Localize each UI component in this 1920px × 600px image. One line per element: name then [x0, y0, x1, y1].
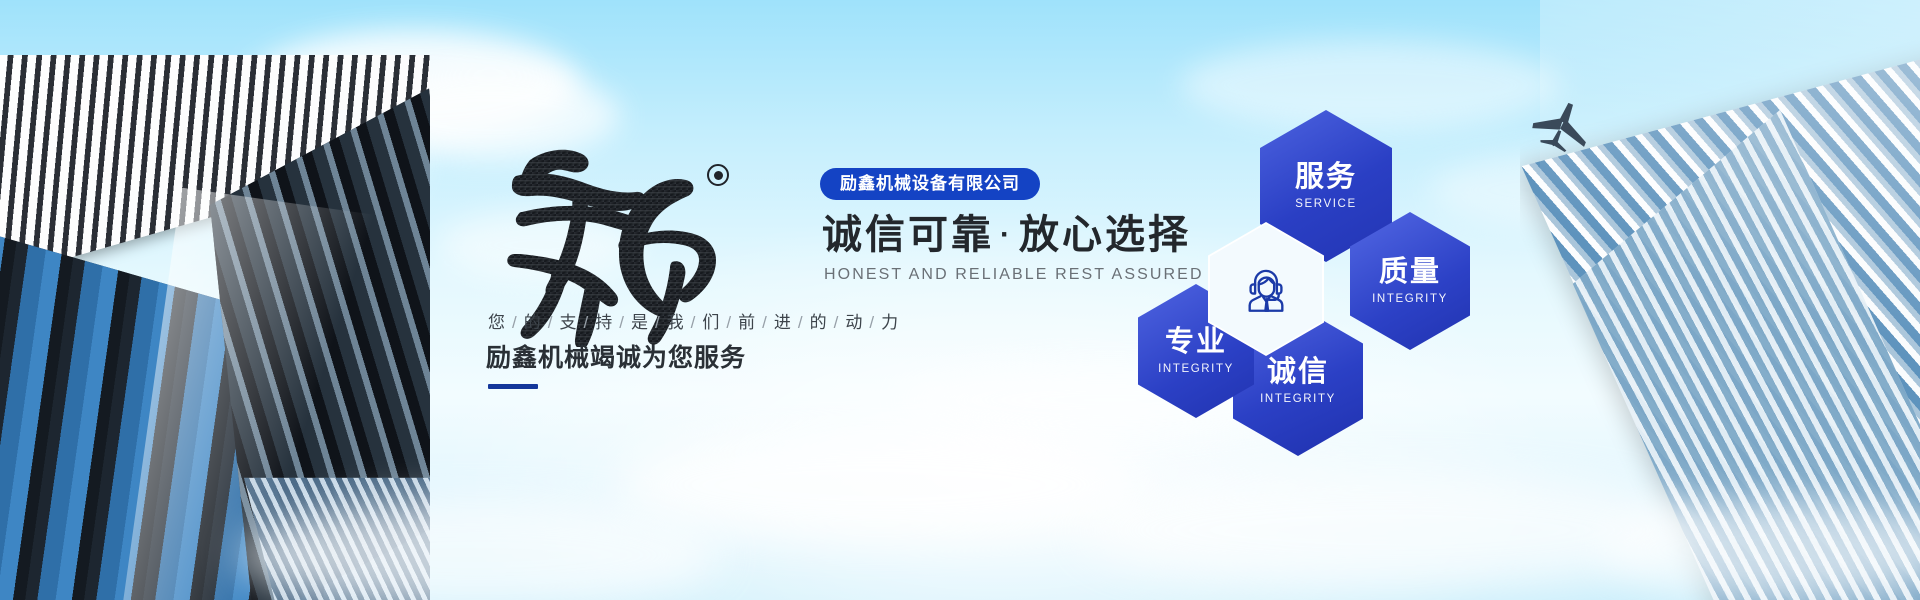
slogan-separator: · [994, 218, 1019, 251]
company-name-badge: 励鑫机械设备有限公司 [820, 168, 1040, 200]
tagline-char: 进 [774, 313, 793, 332]
tagline-char: 的 [810, 313, 829, 332]
hexagon-integrity-zh: 诚信 [1267, 357, 1329, 389]
tagline-chars: 您/的/支/持/是/我/们/前/进/的/动/力 [488, 308, 900, 333]
background-building [244, 478, 430, 600]
tagline-subline: 励鑫机械竭诚为您服务 [486, 338, 746, 374]
hexagon-integrity-en: INTEGRITY [1260, 393, 1336, 405]
tagline-separator: / [757, 313, 774, 332]
tagline-char: 是 [631, 313, 650, 332]
headline-block: 励鑫机械设备有限公司 诚信可靠·放心选择 HONEST AND RELIABLE… [470, 120, 1230, 500]
customer-service-agent-icon [1237, 260, 1295, 318]
hexagon-service-zh: 服务 [1295, 162, 1357, 194]
tagline-separator: / [614, 313, 631, 332]
slogan-part1: 诚信可靠 [822, 213, 994, 257]
tagline-separator: / [650, 313, 667, 332]
tagline-char: 我 [667, 313, 686, 332]
hexagon-professional-zh: 专业 [1165, 327, 1227, 359]
tagline-separator: / [721, 313, 738, 332]
tagline-char: 前 [738, 313, 757, 332]
tagline-separator: / [578, 313, 595, 332]
tagline-char: 持 [595, 313, 614, 332]
tagline-char: 力 [881, 313, 900, 332]
hexagon-quality-zh: 质量 [1379, 257, 1441, 289]
tagline-separator: / [686, 313, 703, 332]
tagline-char: 的 [524, 313, 543, 332]
tagline-separator: / [543, 313, 560, 332]
promo-banner: 励鑫机械设备有限公司 诚信可靠·放心选择 HONEST AND RELIABLE… [0, 0, 1920, 600]
hexagon-quality-en: INTEGRITY [1372, 293, 1448, 305]
tagline-char: 动 [845, 313, 864, 332]
hexagon-service-en: SERVICE [1295, 198, 1356, 210]
tagline-char: 们 [702, 313, 721, 332]
tagline-char: 支 [559, 313, 578, 332]
hexagon-cluster: 服务 SERVICE 质量 INTEGRITY 诚信 INTEGRITY 专业 … [1120, 110, 1740, 510]
tagline-separator: / [793, 313, 810, 332]
tagline-separator: / [829, 313, 846, 332]
hexagon-professional-en: INTEGRITY [1158, 363, 1234, 375]
tagline-separator: / [507, 313, 524, 332]
left-building-photo [0, 55, 430, 600]
tagline-separator: / [864, 313, 881, 332]
circle-dot-icon [707, 164, 729, 186]
accent-rule [488, 384, 538, 389]
tagline-char: 您 [488, 313, 507, 332]
